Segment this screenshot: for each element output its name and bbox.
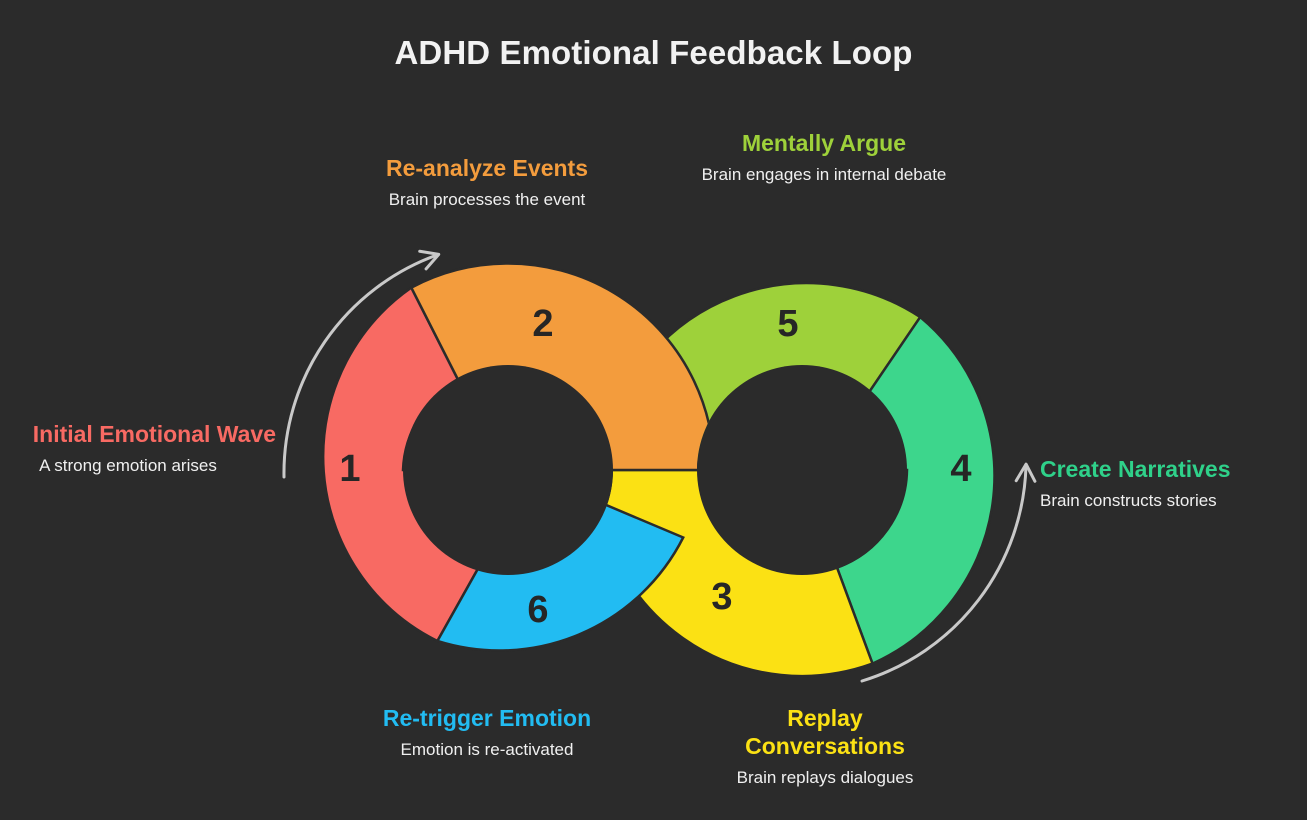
callout-step-2: Re-analyze Events Brain processes the ev… [337,154,637,211]
callout-step-5-title: Mentally Argue [676,129,972,157]
callout-step-1-description: A strong emotion arises [0,455,266,477]
callout-step-6-title: Re-trigger Emotion [337,704,637,732]
callout-step-3: Replay Conversations Brain replays dialo… [675,704,975,789]
segment-1-number: 1 [339,448,360,490]
callout-step-5-description: Brain engages in internal debate [701,164,947,186]
callout-step-5: Mentally Argue Brain engages in internal… [676,129,972,186]
callout-step-6: Re-trigger Emotion Emotion is re-activat… [337,704,637,761]
segment-2-number: 2 [532,303,553,345]
segment-5-number: 5 [777,303,798,345]
callout-step-2-description: Brain processes the event [337,189,637,211]
loop-svg: 1 2 3 4 5 6 [0,0,1307,820]
segment-6-number: 6 [527,589,548,631]
callout-step-3-title: Replay Conversations [725,704,925,760]
callout-step-4-description: Brain constructs stories [1040,490,1302,512]
callout-step-6-description: Emotion is re-activated [337,739,637,761]
callout-step-4-title: Create Narratives [1040,455,1302,483]
callout-step-1-title: Initial Emotional Wave [0,420,276,448]
left-hub-disc [403,365,613,575]
callout-step-4: Create Narratives Brain constructs stori… [1040,455,1302,512]
callout-step-3-description: Brain replays dialogues [675,767,975,789]
feedback-loop-diagram: 1 2 3 4 5 6 Initial Emotional Wave A str… [0,0,1307,820]
segment-3-number: 3 [711,576,732,618]
right-hub-disc [697,365,907,575]
callout-step-1: Initial Emotional Wave A strong emotion … [0,420,276,477]
segment-4-number: 4 [950,448,971,490]
callout-step-2-title: Re-analyze Events [337,154,637,182]
